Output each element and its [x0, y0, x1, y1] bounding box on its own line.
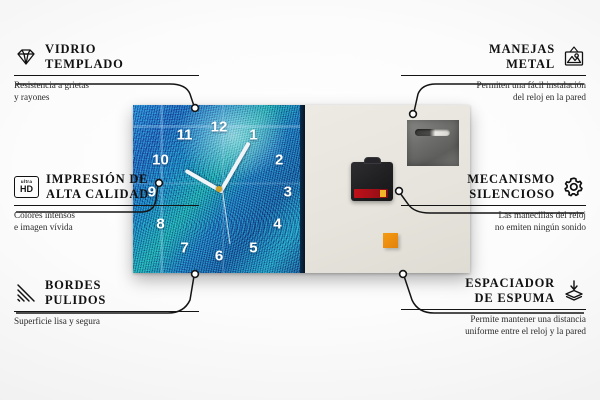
feature-title: Mecanismo silencioso	[467, 172, 555, 202]
ultra-hd-icon: ultra HD	[14, 176, 39, 198]
mechanism-tab	[364, 157, 381, 164]
clock-numeral-6: 6	[215, 249, 223, 264]
feature-header: Mecanismo silencioso	[401, 172, 586, 202]
picture-frame-hanger-icon	[562, 45, 586, 69]
feature-divider	[401, 205, 586, 206]
clock-numeral-2: 2	[275, 153, 283, 168]
feature-description: Superficie lisa y segura	[14, 315, 199, 327]
feature-bordes-pulidos: Bordes pulidos Superficie lisa y segura	[14, 278, 199, 327]
feature-header: Espaciador de espuma	[401, 276, 586, 306]
feature-espaciador-espuma: Espaciador de espuma Permite mantener un…	[401, 276, 586, 337]
diagonal-lines-icon	[14, 281, 38, 305]
clock-numeral-10: 10	[152, 153, 169, 168]
gear-icon	[562, 175, 586, 199]
clock-numeral-12: 12	[211, 119, 228, 134]
clock-numeral-3: 3	[284, 185, 292, 200]
clock-numeral-11: 11	[177, 128, 193, 143]
battery-terminal	[380, 190, 386, 197]
clock-center-cap	[216, 186, 222, 192]
arrow-onto-layers-icon	[562, 279, 586, 303]
feature-impresion-alta-calidad: ultra HD Impresión de alta calidad Color…	[14, 172, 199, 233]
feature-title: Vidrio templado	[45, 42, 124, 72]
feature-divider	[14, 205, 199, 206]
feature-description: Colores intensos e imagen vívida	[14, 209, 199, 233]
infographic-canvas: 12 1 2 3 4 5 6 7 8 9 10 11	[0, 0, 600, 400]
feature-header: ultra HD Impresión de alta calidad	[14, 172, 199, 202]
feature-title: Impresión de alta calidad	[46, 172, 149, 202]
feature-title: Espaciador de espuma	[465, 276, 555, 306]
feature-divider	[401, 75, 586, 76]
hanger-slot	[415, 129, 450, 136]
feature-title: Bordes pulidos	[45, 278, 106, 308]
clock-mechanism	[351, 162, 393, 201]
feature-title: Manejas metal	[489, 42, 555, 72]
clock-numeral-1: 1	[249, 128, 257, 143]
feature-description: Las manecillas del reloj no emiten ningú…	[401, 209, 586, 233]
clock-numeral-5: 5	[249, 240, 257, 255]
clock-numeral-4: 4	[273, 217, 281, 232]
battery	[354, 189, 388, 198]
feature-header: Bordes pulidos	[14, 278, 199, 308]
feature-divider	[14, 75, 199, 76]
diamond-icon	[14, 45, 38, 69]
feature-description: Permite mantener una distancia uniforme …	[401, 313, 586, 337]
feature-divider	[401, 309, 586, 310]
feature-mecanismo-silencioso: Mecanismo silencioso Las manecillas del …	[401, 172, 586, 233]
ultra-hd-icon-main-text: HD	[20, 185, 33, 194]
feature-header: Vidrio templado	[14, 42, 199, 72]
feature-description: Resistencia a grietas y rayones	[14, 79, 199, 103]
feature-vidrio-templado: Vidrio templado Resistencia a grietas y …	[14, 42, 199, 103]
hanger-plate	[407, 120, 459, 166]
feature-manejas-metal: Manejas metal Permiten una fácil instala…	[401, 42, 586, 103]
feature-divider	[14, 311, 199, 312]
feature-header: Manejas metal	[401, 42, 586, 72]
foam-spacer	[383, 233, 398, 248]
clock-numeral-7: 7	[180, 240, 188, 255]
feature-description: Permiten una fácil instalación del reloj…	[401, 79, 586, 103]
